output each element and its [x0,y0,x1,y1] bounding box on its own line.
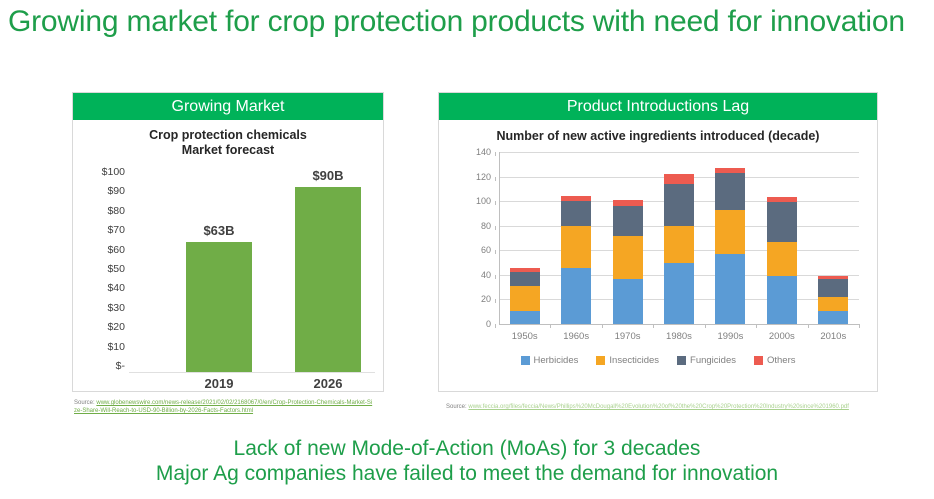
bar-rect-2019[interactable] [186,242,252,372]
new-active-ingredients-chart: 020406080100120140 1950s1960s1970s1980s1… [439,144,877,354]
segment-fungicides-2000s[interactable] [767,202,797,241]
left-source-link[interactable]: www.globenewswire.com/news-release/2021/… [74,400,372,414]
left-y-tick-7: $30 [107,302,125,314]
right-chart-legend: HerbicidesInsecticidesFungicidesOthers [439,355,877,366]
bar-x-label-2026: 2026 [295,376,361,391]
left-y-tick-0: $100 [102,166,125,178]
left-y-tick-5: $50 [107,263,125,275]
stacked-bar-1960s[interactable] [561,196,591,324]
left-y-tick-4: $60 [107,244,125,256]
right-y-tickmark-20 [495,299,496,303]
product-introductions-panel: Product Introductions Lag Number of new … [438,92,878,392]
left-chart-subtitle-line2: Market forecast [73,143,383,158]
left-chart-y-axis: $100$90$80$70$60$50$40$30$20$10$- [77,166,125,372]
left-y-tick-10: $- [116,360,125,372]
bar-rect-2026[interactable] [295,187,361,372]
segment-others-1980s[interactable] [664,174,694,184]
legend-label-herbicides: Herbicides [534,355,579,366]
segment-insecticides-2010s[interactable] [818,297,848,311]
right-x-label-1980s: 1980s [653,331,705,342]
stacked-bar-1970s[interactable] [613,200,643,324]
stacked-bar-1980s[interactable] [664,174,694,324]
left-source-note: Source: www.globenewswire.com/news-relea… [74,399,374,415]
segment-insecticides-1960s[interactable] [561,226,591,268]
segment-herbicides-1960s[interactable] [561,268,591,325]
left-y-tick-2: $80 [107,205,125,217]
segment-insecticides-2000s[interactable] [767,242,797,276]
stacked-bar-1950s[interactable] [510,268,540,324]
segment-herbicides-2000s[interactable] [767,276,797,324]
segment-fungicides-1990s[interactable] [715,173,745,210]
growing-market-header: Growing Market [73,93,383,120]
right-y-tickmark-120 [495,177,496,181]
right-x-label-2000s: 2000s [756,331,808,342]
left-chart-baseline [129,372,375,373]
right-source-link[interactable]: www.feccia.org/files/feccia/News/Phillip… [468,404,849,410]
right-chart-y-axis-line [499,152,500,324]
right-y-tickmark-60 [495,250,496,254]
segment-insecticides-1990s[interactable] [715,210,745,254]
segment-fungicides-2010s[interactable] [818,279,848,297]
right-y-tick-80: 80 [461,221,491,231]
left-y-tick-3: $70 [107,224,125,236]
right-y-tickmark-0 [495,324,496,328]
right-y-tickmark-80 [495,226,496,230]
segment-herbicides-1980s[interactable] [664,263,694,324]
right-y-tickmark-40 [495,275,496,279]
stacked-bar-2000s[interactable] [767,197,797,324]
right-y-tickmark-140 [495,152,496,156]
legend-swatch-fungicides [677,356,686,365]
footer-line-2: Major Ag companies have failed to meet t… [0,461,934,487]
right-y-tick-40: 40 [461,270,491,280]
legend-label-others: Others [767,355,796,366]
legend-item-herbicides[interactable]: Herbicides [521,355,579,366]
right-y-tick-140: 140 [461,147,491,157]
right-x-label-1960s: 1960s [550,331,602,342]
legend-label-insecticides: Insecticides [609,355,659,366]
right-x-label-1970s: 1970s [602,331,654,342]
market-forecast-chart: $100$90$80$70$60$50$40$30$20$10$- $63B20… [73,158,383,391]
segment-insecticides-1980s[interactable] [664,226,694,263]
right-source-prefix: Source: [446,404,468,410]
page-title: Growing market for crop protection produ… [8,2,926,42]
right-chart-subtitle: Number of new active ingredients introdu… [439,129,877,144]
right-chart-baseline [499,324,859,325]
legend-item-fungicides[interactable]: Fungicides [677,355,736,366]
right-y-tick-100: 100 [461,196,491,206]
bar-value-label-2019: $63B [203,223,234,238]
bar-column-2026[interactable]: $90B [295,168,361,372]
segment-fungicides-1950s[interactable] [510,272,540,286]
segment-herbicides-1990s[interactable] [715,254,745,324]
segment-insecticides-1970s[interactable] [613,236,643,279]
right-y-tick-20: 20 [461,294,491,304]
right-y-tick-0: 0 [461,319,491,329]
product-introductions-header: Product Introductions Lag [439,93,877,120]
left-source-prefix: Source: [74,400,96,406]
right-gridline-140 [499,152,859,153]
left-chart-subtitle-line1: Crop protection chemicals [73,128,383,143]
stacked-bar-2010s[interactable] [818,276,848,324]
segment-herbicides-1950s[interactable] [510,311,540,325]
stacked-bar-1990s[interactable] [715,168,745,324]
segment-herbicides-2010s[interactable] [818,311,848,325]
right-y-tickmark-100 [495,201,496,205]
bar-x-label-2019: 2019 [186,376,252,391]
left-y-tick-1: $90 [107,185,125,197]
right-y-tick-120: 120 [461,172,491,182]
segment-fungicides-1970s[interactable] [613,206,643,235]
segment-fungicides-1980s[interactable] [664,184,694,226]
right-x-label-1990s: 1990s [704,331,756,342]
legend-item-insecticides[interactable]: Insecticides [596,355,659,366]
right-x-tickmark-2010s [859,324,860,328]
legend-item-others[interactable]: Others [754,355,796,366]
bar-column-2019[interactable]: $63B [186,223,252,372]
right-source-note: Source: www.feccia.org/files/feccia/News… [446,403,886,411]
left-y-tick-9: $10 [107,341,125,353]
legend-swatch-insecticides [596,356,605,365]
segment-herbicides-1970s[interactable] [613,279,643,324]
legend-swatch-others [754,356,763,365]
right-x-label-1950s: 1950s [499,331,551,342]
bar-value-label-2026: $90B [312,168,343,183]
growing-market-panel: Growing Market Crop protection chemicals… [72,92,384,392]
segment-insecticides-1950s[interactable] [510,286,540,311]
legend-swatch-herbicides [521,356,530,365]
footer-line-1: Lack of new Mode-of-Action (MoAs) for 3 … [0,436,934,462]
left-y-tick-8: $20 [107,321,125,333]
segment-fungicides-1960s[interactable] [561,201,591,226]
legend-label-fungicides: Fungicides [690,355,736,366]
left-y-tick-6: $40 [107,282,125,294]
right-x-label-2010s: 2010s [807,331,859,342]
right-y-tick-60: 60 [461,245,491,255]
